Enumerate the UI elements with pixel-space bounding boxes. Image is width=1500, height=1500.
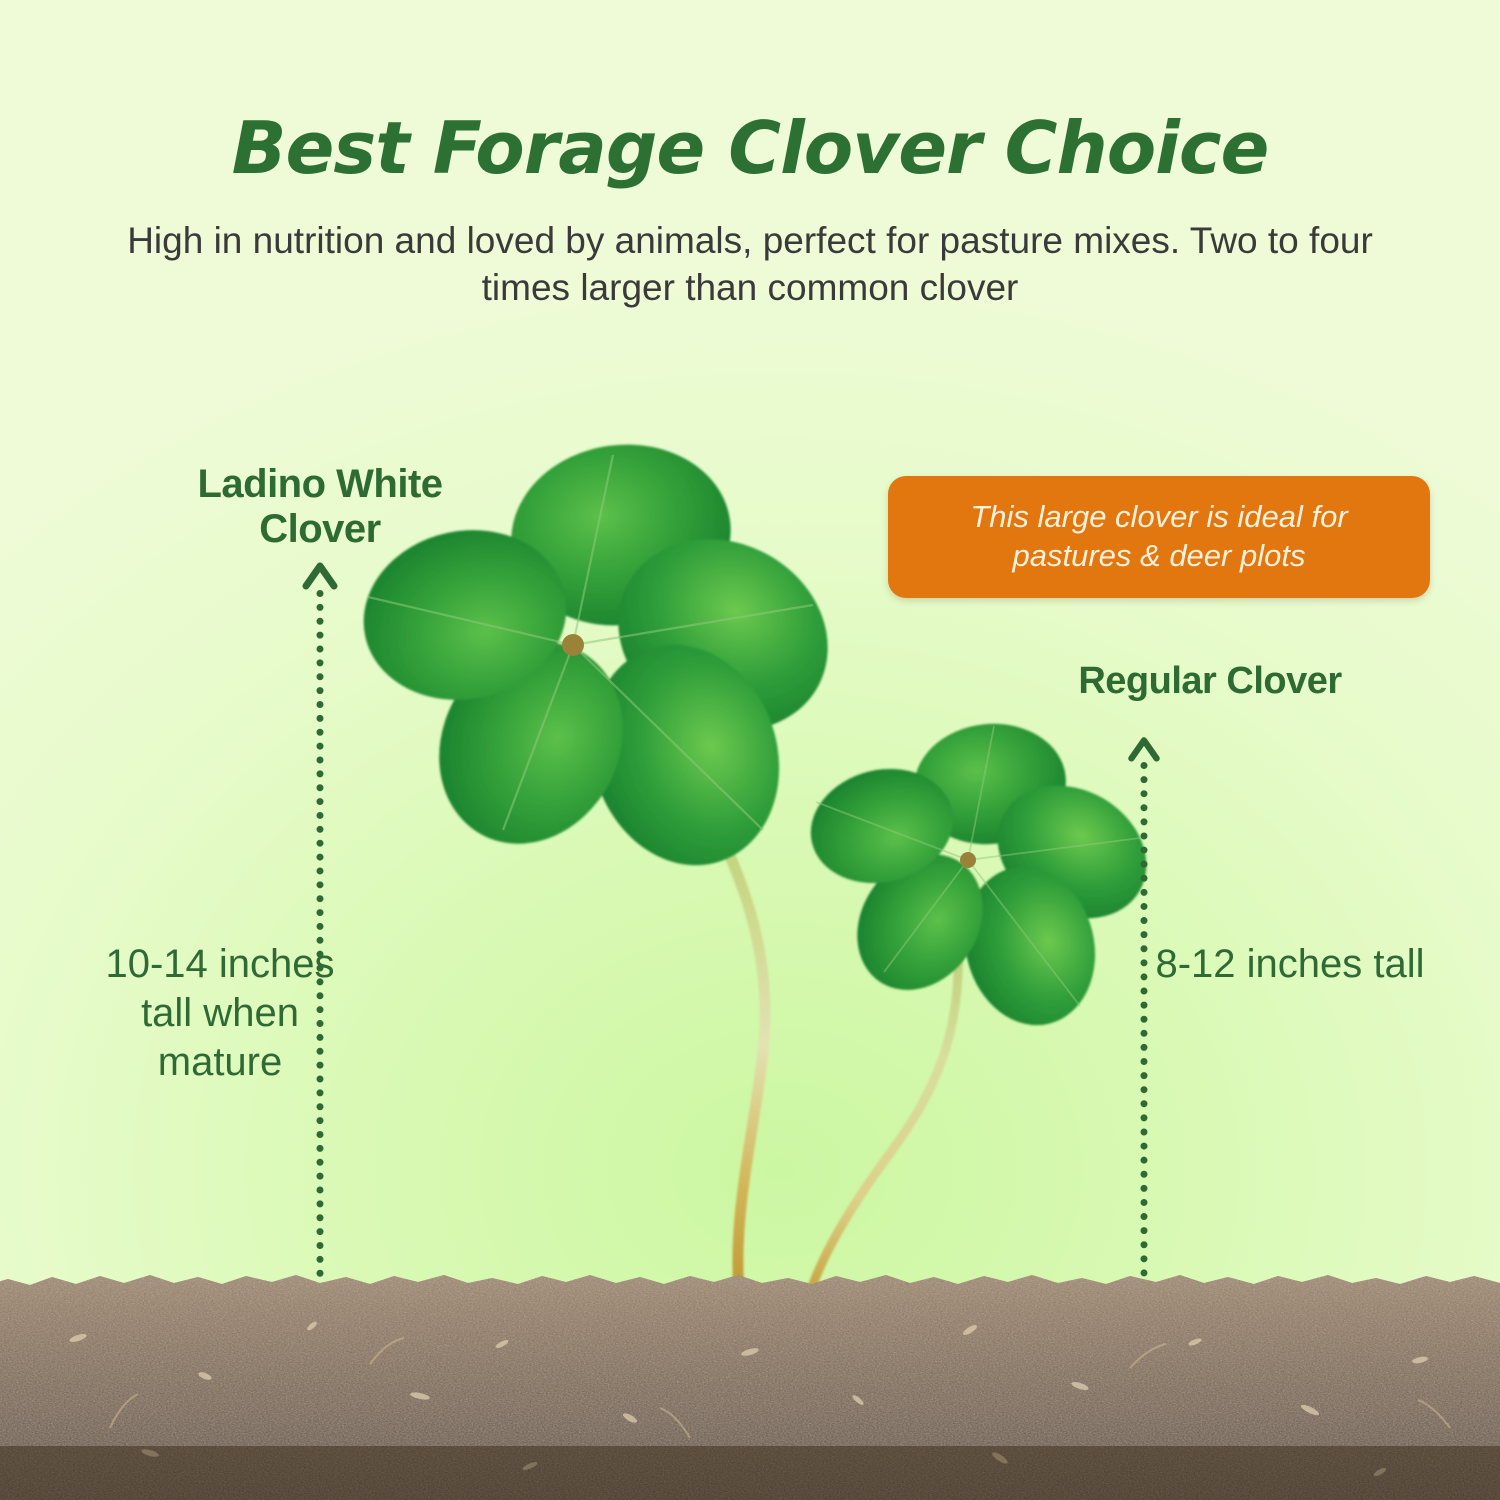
regular-clover-label: Regular Clover: [1000, 660, 1420, 703]
regular-height-guide: [1122, 735, 1166, 1305]
regular-leaf-cluster: [799, 716, 1171, 1039]
ladino-height-measurement: 10-14 inches tall when mature: [95, 940, 345, 1088]
callout-text: This large clover is ideal for pastures …: [888, 498, 1430, 576]
infographic-canvas: Best Forage Clover Choice High in nutrit…: [0, 0, 1500, 1500]
soil-bed: [0, 1268, 1500, 1500]
callout-badge: This large clover is ideal for pastures …: [888, 476, 1430, 598]
ladino-white-clover-label: Ladino White Clover: [150, 462, 490, 552]
regular-height-measurement: 8-12 inches tall: [1150, 940, 1430, 989]
page-title: Best Forage Clover Choice: [0, 112, 1500, 184]
up-arrow-icon: [300, 560, 340, 590]
ladino-height-guide: [296, 560, 344, 1305]
page-subtitle: High in nutrition and loved by animals, …: [110, 218, 1390, 311]
regular-dotted-line: [1141, 762, 1148, 1305]
up-arrow-icon: [1126, 735, 1162, 762]
header: Best Forage Clover Choice High in nutrit…: [0, 112, 1500, 311]
